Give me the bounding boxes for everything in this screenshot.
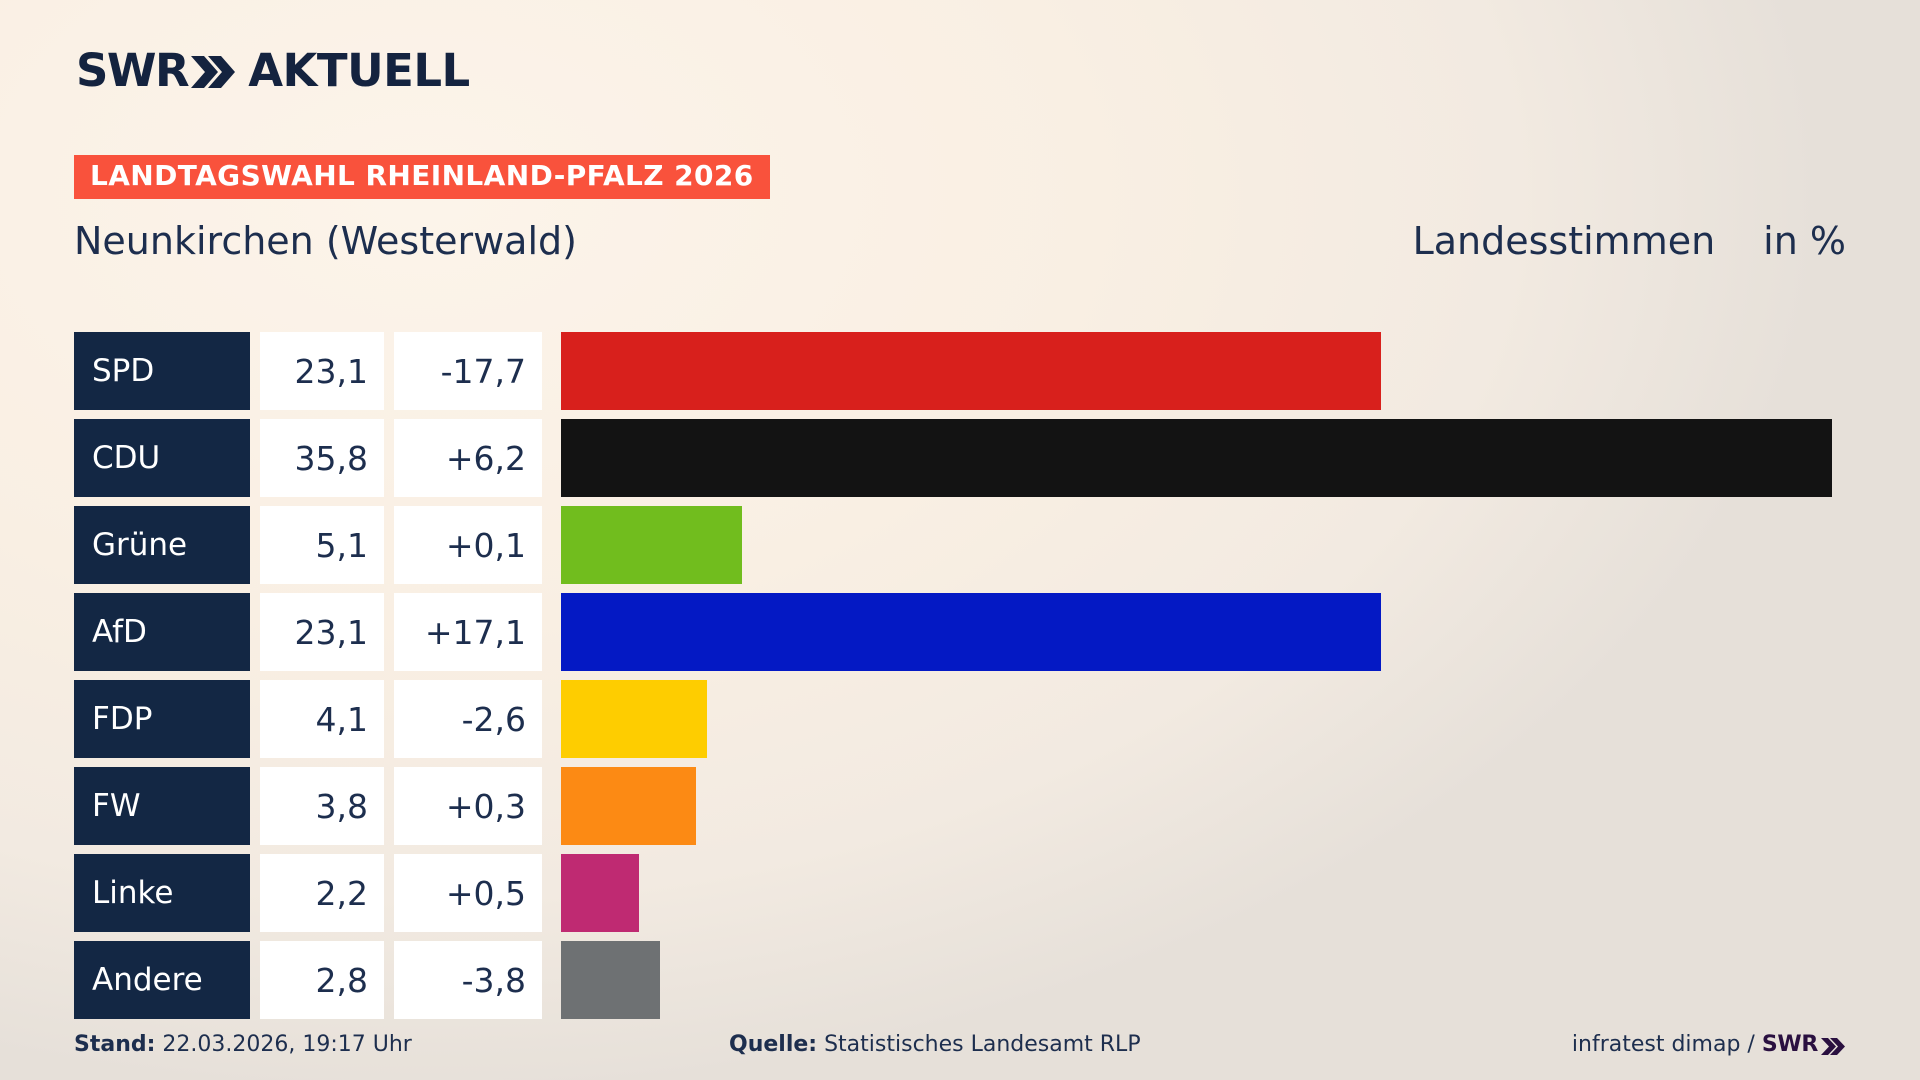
quelle-value: Statistisches Landesamt RLP [824,1032,1141,1057]
bar-track [561,854,1846,932]
result-bar [561,680,707,758]
party-share-value: 5,1 [260,506,384,584]
party-share-value: 4,1 [260,680,384,758]
subtitle-row: Neunkirchen (Westerwald) Landesstimmen i… [74,222,1846,260]
bar-track [561,680,1846,758]
credit-block: infratest dimap / SWR [1572,1032,1846,1057]
brand-swr-text: SWR [76,48,188,93]
unit-label: in % [1763,222,1846,260]
table-row: FW 3,8 +0,3 [74,767,1846,845]
party-label: Andere [74,941,250,1019]
credit-pollster: infratest dimap [1572,1032,1741,1057]
party-share-value: 2,2 [260,854,384,932]
vote-type-label: Landesstimmen [1413,222,1716,260]
stand-block: Stand: 22.03.2026, 19:17 Uhr [74,1032,412,1057]
quelle-label: Quelle: [729,1032,817,1057]
party-share-value: 2,8 [260,941,384,1019]
result-bar [561,506,742,584]
table-row: CDU 35,8 +6,2 [74,419,1846,497]
double-chevron-right-icon [191,54,237,90]
results-chart: SPD 23,1 -17,7 CDU 35,8 +6,2 Grüne 5,1 +… [74,332,1846,1028]
bar-track [561,767,1846,845]
party-change-value: +6,2 [394,419,542,497]
bar-track [561,419,1846,497]
party-share-value: 23,1 [260,593,384,671]
brand-aktuell-text: AKTUELL [248,48,470,93]
table-row: AfD 23,1 +17,1 [74,593,1846,671]
result-bar [561,419,1832,497]
result-bar [561,593,1381,671]
table-row: Linke 2,2 +0,5 [74,854,1846,932]
party-label: AfD [74,593,250,671]
stand-label: Stand: [74,1032,155,1057]
result-bar [561,767,696,845]
party-change-value: +0,5 [394,854,542,932]
election-result-graphic: SWR AKTUELL LANDTAGSWAHL RHEINLAND-PFALZ… [0,0,1920,1080]
party-change-value: +0,3 [394,767,542,845]
credit-broadcaster: SWR [1762,1032,1818,1057]
region-name: Neunkirchen (Westerwald) [74,222,577,260]
table-row: FDP 4,1 -2,6 [74,680,1846,758]
party-share-value: 23,1 [260,332,384,410]
election-banner: LANDTAGSWAHL RHEINLAND-PFALZ 2026 [74,155,770,199]
stand-value: 22.03.2026, 19:17 Uhr [162,1032,411,1057]
party-change-value: -17,7 [394,332,542,410]
bar-track [561,941,1846,1019]
quelle-block: Quelle: Statistisches Landesamt RLP [729,1032,1141,1057]
table-row: Grüne 5,1 +0,1 [74,506,1846,584]
party-change-value: +17,1 [394,593,542,671]
bar-track [561,506,1846,584]
party-label: FDP [74,680,250,758]
party-label: CDU [74,419,250,497]
party-change-value: -2,6 [394,680,542,758]
column-headings: Landesstimmen in % [1413,222,1846,260]
credit-separator: / [1740,1032,1761,1057]
double-chevron-right-icon [1821,1037,1846,1056]
table-row: SPD 23,1 -17,7 [74,332,1846,410]
party-share-value: 35,8 [260,419,384,497]
party-label: Linke [74,854,250,932]
result-bar [561,332,1381,410]
party-share-value: 3,8 [260,767,384,845]
party-change-value: +0,1 [394,506,542,584]
party-label: Grüne [74,506,250,584]
party-label: SPD [74,332,250,410]
party-change-value: -3,8 [394,941,542,1019]
bar-track [561,593,1846,671]
result-bar [561,854,639,932]
bar-track [561,332,1846,410]
swr-aktuell-logo: SWR AKTUELL [76,48,470,93]
table-row: Andere 2,8 -3,8 [74,941,1846,1019]
footer: Stand: 22.03.2026, 19:17 Uhr Quelle: Sta… [74,1032,1846,1057]
result-bar [561,941,660,1019]
party-label: FW [74,767,250,845]
